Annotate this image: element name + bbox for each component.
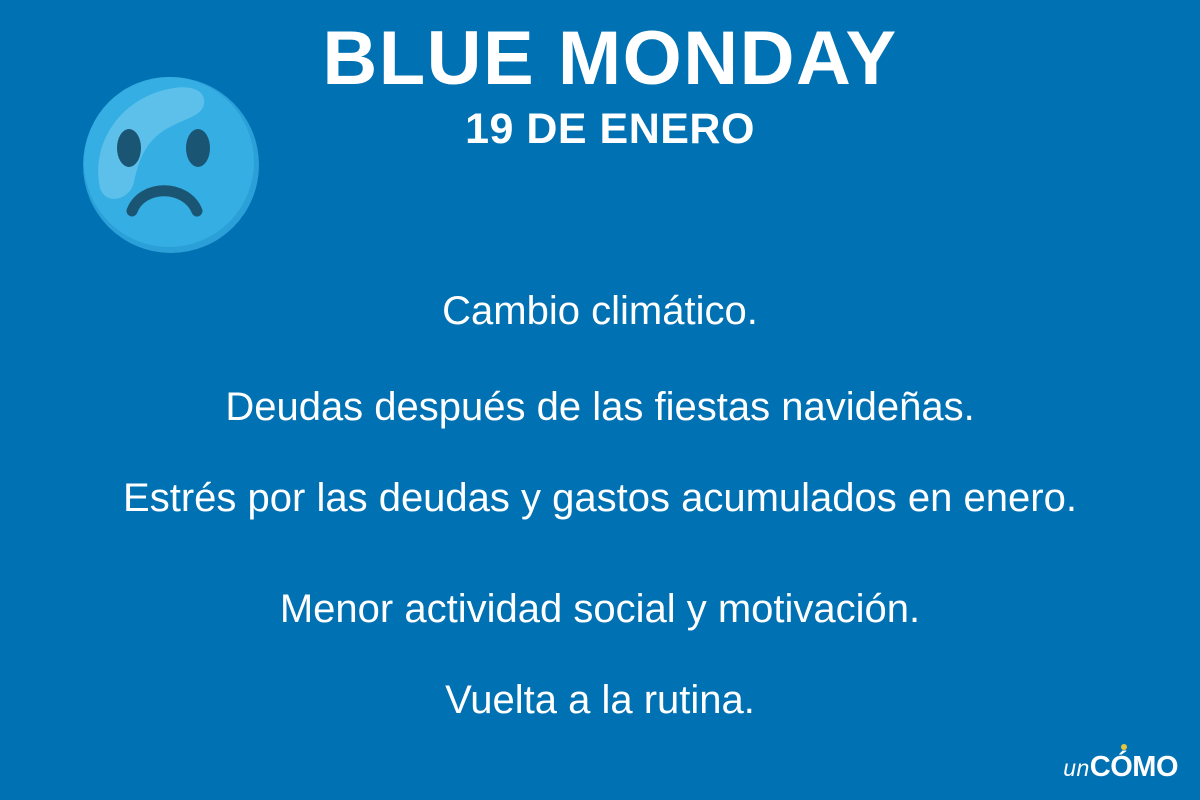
- sad-face-emoji: [82, 76, 260, 254]
- brand-logo-name-text: CÓMO: [1090, 751, 1178, 783]
- reason-item: Cambio climático.: [0, 288, 1200, 334]
- reason-item: Vuelta a la rutina.: [0, 677, 1200, 723]
- brand-logo: un CÓMO: [1063, 753, 1178, 782]
- emoji-left-eye: [117, 129, 141, 167]
- page-title: BLUE MONDAY: [260, 22, 960, 96]
- brand-logo-prefix: un: [1063, 757, 1090, 780]
- reason-item: Estrés por las deudas y gastos acumulado…: [0, 475, 1200, 521]
- page-subtitle: 19 DE ENERO: [260, 106, 960, 153]
- reason-list: Cambio climático. Deudas después de las …: [0, 272, 1200, 723]
- brand-logo-accent-dot-icon: [1121, 744, 1127, 750]
- reason-item: Deudas después de las fiestas navideñas.: [0, 384, 1200, 430]
- poster-header: BLUE MONDAY 19 DE ENERO: [260, 22, 960, 154]
- reason-item: Menor actividad social y motivación.: [0, 586, 1200, 632]
- blue-monday-poster: BLUE MONDAY 19 DE ENERO Cambio climático…: [0, 0, 1200, 800]
- brand-logo-name: CÓMO: [1090, 753, 1178, 782]
- emoji-right-eye: [186, 129, 210, 167]
